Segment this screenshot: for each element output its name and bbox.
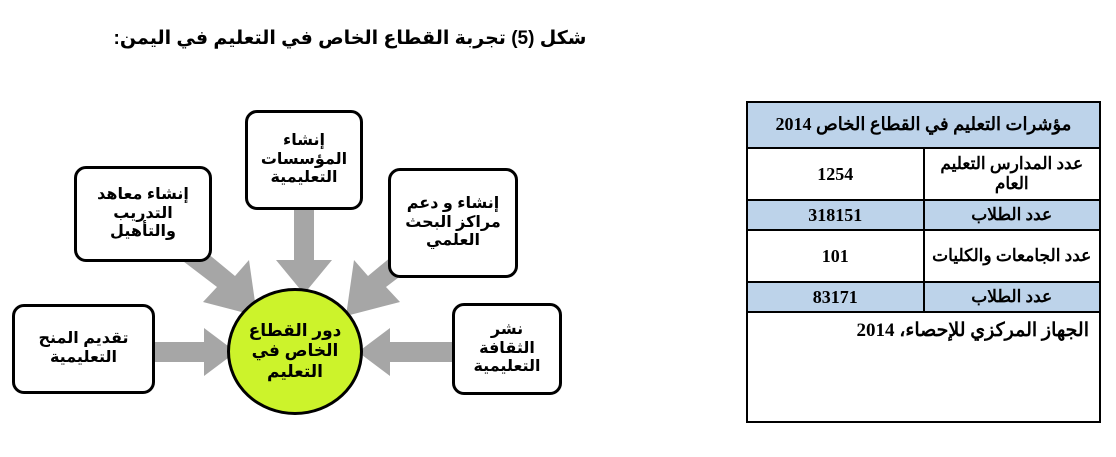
table-row: عدد الطلاب 83171	[747, 282, 1100, 312]
node-box-grants[interactable]: تقديم المنح التعليمية	[12, 304, 155, 394]
row-value-university-students: 83171	[747, 282, 924, 312]
node-label-research: إنشاء و دعم مراكز البحث العلمي	[397, 195, 509, 252]
row-label-university-students: عدد الطلاب	[924, 282, 1101, 312]
table-source-note: الجهاز المركزي للإحصاء، 2014	[747, 312, 1100, 422]
node-box-institutions[interactable]: إنشاء المؤسسات التعليمية	[245, 110, 363, 210]
table-footer-row: الجهاز المركزي للإحصاء، 2014	[747, 312, 1100, 422]
node-label-institutions: إنشاء المؤسسات التعليمية	[254, 132, 354, 189]
row-value-school-students: 318151	[747, 200, 924, 230]
row-value-universities: 101	[747, 230, 924, 282]
node-box-training[interactable]: إنشاء معاهد التدريب والتأهيل	[74, 166, 212, 262]
central-node-private-sector-role[interactable]: دور القطاع الخاص في التعليم	[227, 288, 363, 415]
central-node-label: دور القطاع الخاص في التعليم	[230, 321, 360, 381]
row-label-school-students: عدد الطلاب	[924, 200, 1101, 230]
node-label-training: إنشاء معاهد التدريب والتأهيل	[83, 186, 203, 243]
table-header-title: مؤشرات التعليم في القطاع الخاص 2014	[747, 102, 1100, 148]
row-label-universities: عدد الجامعات والكليات	[924, 230, 1101, 282]
arrow-down-icon	[272, 202, 336, 296]
education-indicators-table: مؤشرات التعليم في القطاع الخاص 2014 عدد …	[746, 101, 1101, 423]
page-title: شكل (5) تجربة القطاع الخاص في التعليم في…	[0, 28, 700, 51]
table-row: عدد المدارس التعليم العام 1254	[747, 148, 1100, 200]
table-row: عدد الجامعات والكليات 101	[747, 230, 1100, 282]
arrow-left-icon	[358, 328, 454, 376]
node-label-culture: نشر الثقافة التعليمية	[461, 321, 553, 378]
row-value-schools: 1254	[747, 148, 924, 200]
node-box-research[interactable]: إنشاء و دعم مراكز البحث العلمي	[388, 168, 518, 278]
arrow-right-icon	[152, 328, 236, 376]
row-label-schools: عدد المدارس التعليم العام	[924, 148, 1101, 200]
node-label-grants: تقديم المنح التعليمية	[21, 330, 146, 368]
table-header-row: مؤشرات التعليم في القطاع الخاص 2014	[747, 102, 1100, 148]
node-box-culture[interactable]: نشر الثقافة التعليمية	[452, 303, 562, 395]
diagram-canvas: إنشاء المؤسسات التعليمية إنشاء معاهد الت…	[0, 90, 700, 457]
table-row: عدد الطلاب 318151	[747, 200, 1100, 230]
